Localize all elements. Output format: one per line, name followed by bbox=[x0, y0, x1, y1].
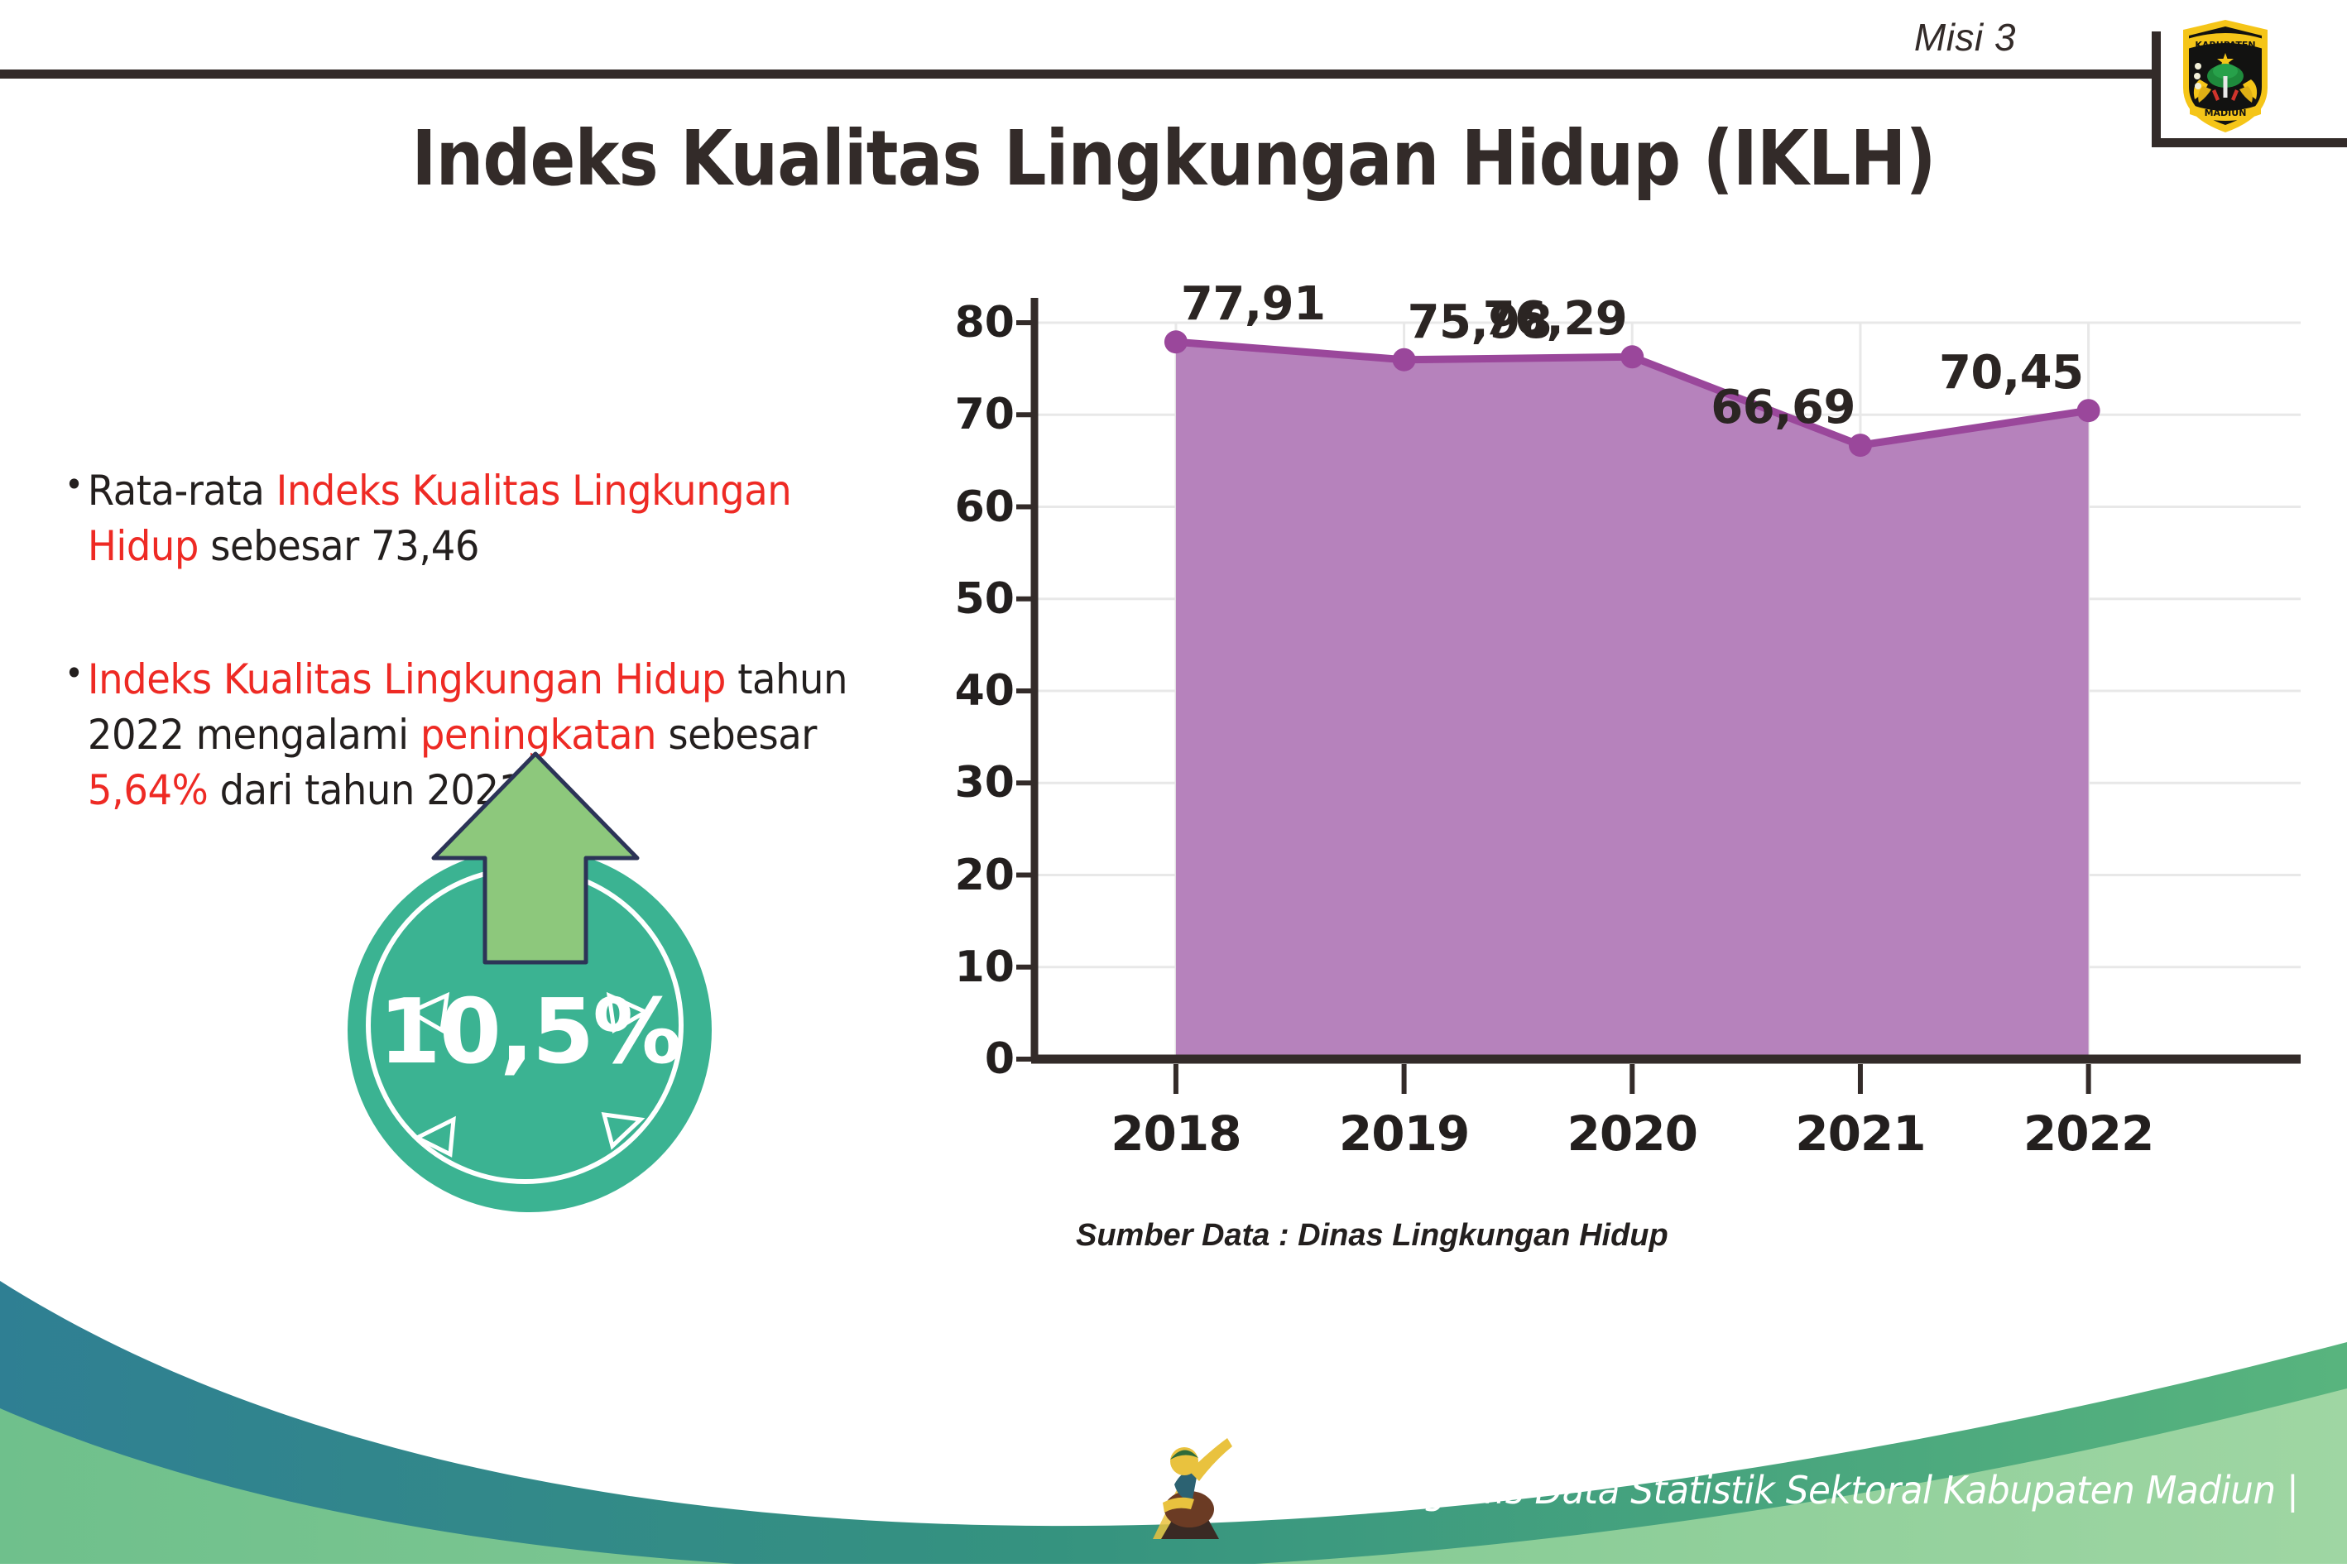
data-point-marker bbox=[2077, 399, 2100, 422]
chart-source-note: Sumber Data : Dinas Lingkungan Hidup bbox=[1076, 1218, 1668, 1254]
data-point-label: 70,45 bbox=[1939, 346, 2084, 400]
y-axis-tick-label: 60 bbox=[955, 482, 1015, 532]
y-axis-tick-label: 50 bbox=[955, 574, 1015, 624]
svg-text:MADIUN: MADIUN bbox=[2205, 108, 2247, 118]
area-fill bbox=[1176, 342, 2089, 1059]
data-point-marker bbox=[1164, 330, 1188, 353]
up-arrow-icon bbox=[424, 749, 647, 997]
bullet-2-highlight-c: 5,64% bbox=[88, 766, 208, 814]
x-axis-tick-label: 2022 bbox=[2023, 1105, 2153, 1162]
y-axis-tick-label: 80 bbox=[955, 298, 1015, 348]
y-axis-tick-label: 70 bbox=[955, 390, 1015, 439]
page-title: Indeks Kualitas Lingkungan Hidup (IKLH) bbox=[141, 114, 2206, 203]
statistics-dancer-logo-icon bbox=[1146, 1433, 1236, 1541]
badge-value-text: 10,5% bbox=[348, 981, 712, 1084]
chart-canvas bbox=[977, 290, 2301, 1200]
mission-label: Misi 3 bbox=[1914, 15, 2016, 60]
x-axis-tick-label: 2021 bbox=[1795, 1105, 1925, 1162]
data-point-marker bbox=[1849, 434, 1872, 457]
x-axis-tick-label: 2018 bbox=[1111, 1105, 1241, 1162]
footer-wave-banner: Media Infografis Data Statistik Sektoral… bbox=[0, 1249, 2347, 1564]
list-item: Rata-rata Indeks Kualitas Lingkungan Hid… bbox=[65, 463, 895, 574]
data-point-marker bbox=[1620, 345, 1644, 368]
data-point-label: 66,69 bbox=[1711, 381, 1855, 434]
y-axis-tick-label: 10 bbox=[955, 942, 1015, 992]
y-axis-tick-label: 30 bbox=[955, 758, 1015, 808]
x-axis-tick-label: 2020 bbox=[1567, 1105, 1697, 1162]
data-point-marker bbox=[1393, 348, 1416, 372]
y-axis-tick-label: 40 bbox=[955, 666, 1015, 716]
bullet-1-seg1: Rata-rata bbox=[88, 467, 276, 515]
svg-text:KABUPATEN: KABUPATEN bbox=[2195, 40, 2255, 50]
data-point-label: 77,91 bbox=[1181, 277, 1326, 331]
bullet-2-highlight-a: Indeks Kualitas Lingkungan Hidup bbox=[88, 655, 726, 703]
header-divider-rule bbox=[0, 70, 2160, 79]
sparkle-triangle-icon-bottom-right bbox=[599, 1105, 646, 1151]
sparkle-triangle-icon-bottom-left bbox=[412, 1113, 458, 1159]
iklh-area-chart: 010203040506070802018201920202021202277,… bbox=[977, 290, 2301, 1200]
bullet-1-seg3: sebesar 73,46 bbox=[199, 522, 479, 570]
y-axis-tick-label: 20 bbox=[955, 851, 1015, 900]
x-axis-tick-label: 2019 bbox=[1339, 1105, 1469, 1162]
y-axis-tick-label: 0 bbox=[985, 1034, 1015, 1084]
footer-caption: Media Infografis Data Statistik Sektoral… bbox=[1240, 1468, 2298, 1513]
data-point-label: 76,29 bbox=[1483, 292, 1628, 346]
increase-badge: 10,5% bbox=[331, 749, 761, 1212]
